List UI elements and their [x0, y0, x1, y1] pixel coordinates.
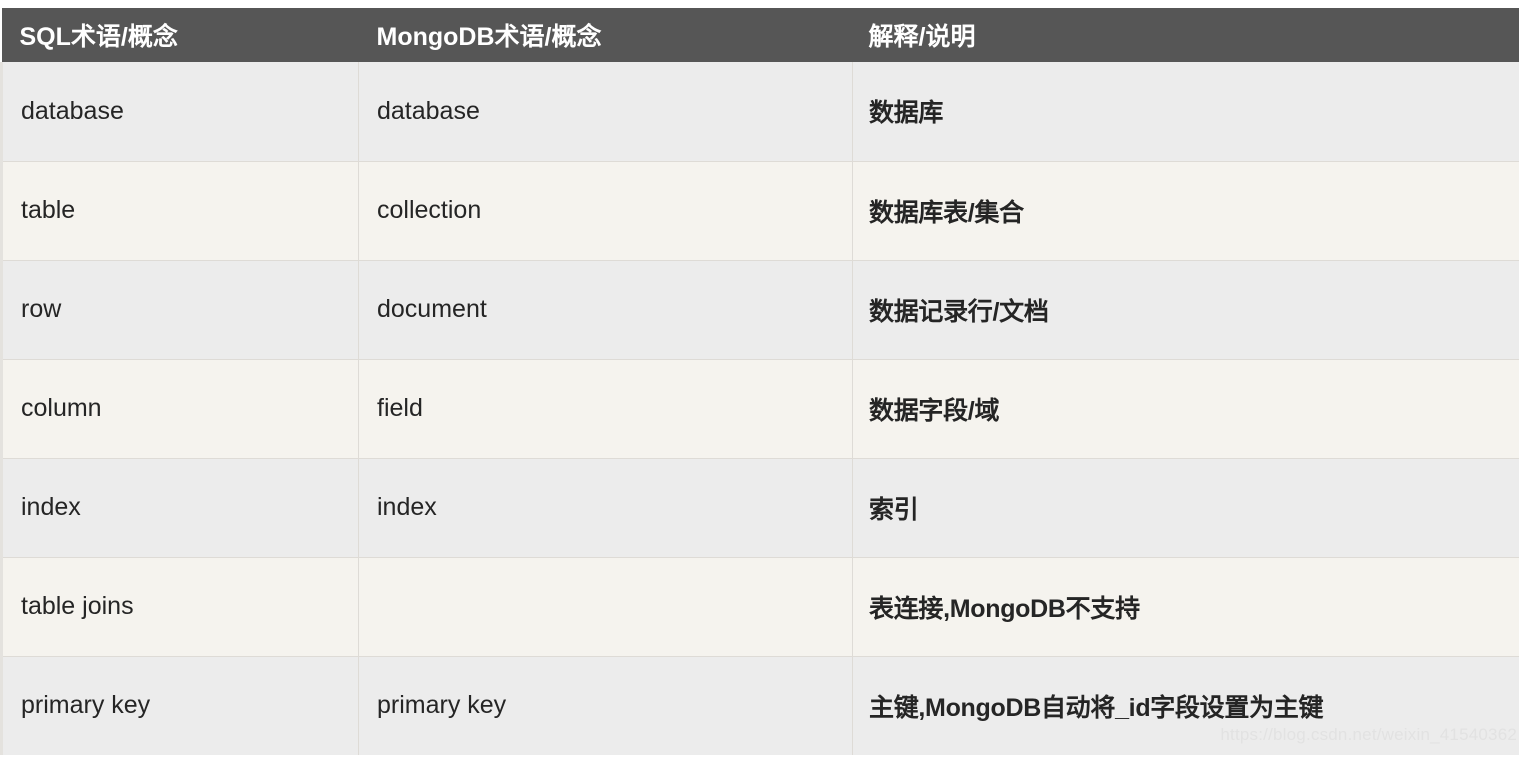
cell-sql-term: table joins [2, 557, 359, 656]
cell-explanation: 表连接,MongoDB不支持 [853, 557, 1519, 656]
cell-sql-term: row [2, 260, 359, 359]
cell-mongodb-term: primary key [359, 656, 853, 755]
column-header-sql: SQL术语/概念 [2, 8, 359, 62]
table-row: primary key primary key 主键,MongoDB自动将_id… [2, 656, 1519, 755]
cell-mongodb-term: index [359, 458, 853, 557]
cell-explanation: 数据库表/集合 [853, 161, 1519, 260]
table-row: database database 数据库 [2, 62, 1519, 161]
cell-explanation: 索引 [853, 458, 1519, 557]
cell-sql-term: table [2, 161, 359, 260]
cell-sql-term: primary key [2, 656, 359, 755]
cell-sql-term: column [2, 359, 359, 458]
table-row: table collection 数据库表/集合 [2, 161, 1519, 260]
cell-explanation: 数据字段/域 [853, 359, 1519, 458]
cell-mongodb-term: database [359, 62, 853, 161]
cell-mongodb-term: document [359, 260, 853, 359]
cell-mongodb-term: collection [359, 161, 853, 260]
table-row: table joins 表连接,MongoDB不支持 [2, 557, 1519, 656]
table-row: column field 数据字段/域 [2, 359, 1519, 458]
column-header-mongodb: MongoDB术语/概念 [359, 8, 853, 62]
table-header: SQL术语/概念 MongoDB术语/概念 解释/说明 [2, 8, 1519, 62]
cell-explanation: 主键,MongoDB自动将_id字段设置为主键 [853, 656, 1519, 755]
cell-mongodb-term [359, 557, 853, 656]
table-body: database database 数据库 table collection 数… [2, 62, 1519, 755]
column-header-explanation: 解释/说明 [853, 8, 1519, 62]
cell-explanation: 数据记录行/文档 [853, 260, 1519, 359]
table-row: index index 索引 [2, 458, 1519, 557]
cell-sql-term: database [2, 62, 359, 161]
table-row: row document 数据记录行/文档 [2, 260, 1519, 359]
terminology-table-container: SQL术语/概念 MongoDB术语/概念 解释/说明 database dat… [0, 8, 1519, 755]
header-row: SQL术语/概念 MongoDB术语/概念 解释/说明 [2, 8, 1519, 62]
cell-mongodb-term: field [359, 359, 853, 458]
cell-sql-term: index [2, 458, 359, 557]
cell-explanation: 数据库 [853, 62, 1519, 161]
sql-mongodb-terminology-table: SQL术语/概念 MongoDB术语/概念 解释/说明 database dat… [0, 8, 1519, 755]
